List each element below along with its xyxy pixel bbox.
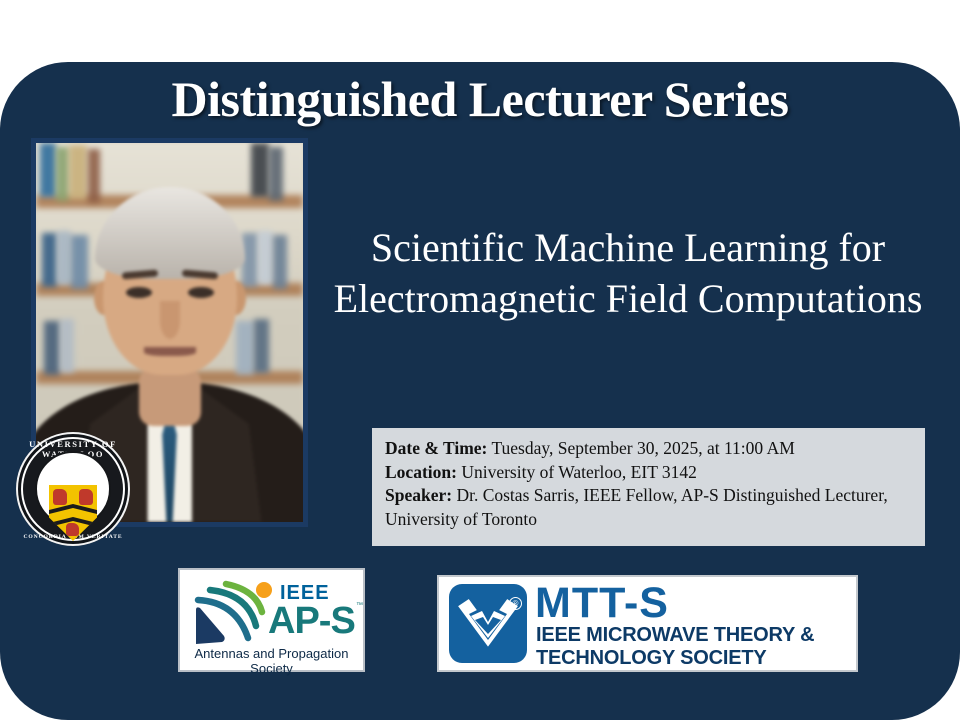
detail-location-label: Location: [385, 462, 457, 482]
book [254, 319, 269, 373]
detail-date-time: Date & Time: Tuesday, September 30, 2025… [385, 437, 913, 461]
book [69, 145, 87, 199]
mtt-subtitle-line-2: TECHNOLOGY SOCIETY [536, 647, 856, 670]
detail-location-value: University of Waterloo, EIT 3142 [457, 462, 697, 482]
mouth [144, 347, 196, 356]
page-title: Distinguished Lecturer Series [0, 70, 960, 128]
detail-date-value: Tuesday, September 30, 2025, at 11:00 AM [487, 438, 794, 458]
lion-bottom [66, 523, 79, 536]
eye-right [188, 287, 214, 298]
aps-logo-top-row: IEEE AP-S ™ [190, 578, 358, 646]
poster-root: Distinguished Lecturer Series [0, 0, 960, 720]
book [242, 233, 258, 287]
book [273, 235, 287, 289]
mtt-name-text: MTT-S [535, 581, 669, 625]
seal-inner-disc [35, 451, 111, 527]
antenna-waves-icon [190, 580, 276, 646]
mtt-subtitle: IEEE MICROWAVE THEORY & TECHNOLOGY SOCIE… [536, 624, 856, 670]
book [57, 231, 71, 285]
book [269, 147, 283, 201]
detail-date-label: Date & Time: [385, 438, 487, 458]
detail-speaker-value: Dr. Costas Sarris, IEEE Fellow, AP-S Dis… [385, 485, 888, 529]
aps-name-text: AP-S [268, 600, 355, 643]
mtt-m-symbol-icon [449, 584, 527, 663]
shield-chevron [49, 504, 97, 514]
event-details-box: Date & Time: Tuesday, September 30, 2025… [372, 428, 925, 546]
nose [160, 301, 180, 339]
book [44, 321, 60, 375]
detail-location: Location: University of Waterloo, EIT 31… [385, 461, 913, 485]
lion-left [53, 489, 67, 505]
lion-right [79, 489, 93, 505]
eye-left [126, 287, 152, 298]
mtt-subtitle-line-1: IEEE MICROWAVE THEORY & [536, 624, 856, 647]
book [258, 231, 273, 285]
book [60, 319, 74, 373]
aps-caption: Antennas and Propagation Society [180, 646, 363, 676]
book [251, 143, 269, 197]
ieee-aps-logo: IEEE AP-S ™ Antennas and Propagation Soc… [178, 568, 365, 672]
book [88, 149, 100, 203]
university-of-waterloo-seal-icon: UNIVERSITY OF WATERLOO CONCORDIA CUM VER… [16, 432, 130, 546]
book [236, 321, 254, 375]
aps-trademark-icon: ™ [356, 602, 363, 609]
detail-speaker: Speaker: Dr. Costas Sarris, IEEE Fellow,… [385, 484, 913, 531]
detail-speaker-label: Speaker: [385, 485, 452, 505]
book [42, 233, 57, 287]
registered-trademark-icon: ® [509, 597, 522, 610]
talk-title: Scientific Machine Learning for Electrom… [330, 222, 926, 324]
ieee-mtt-s-logo: ® MTT-S IEEE MICROWAVE THEORY & TECHNOLO… [437, 575, 858, 672]
mtt-waveguide-badge-icon: ® [449, 584, 527, 663]
book [40, 143, 56, 197]
neck [139, 368, 201, 426]
book [71, 235, 88, 289]
book [56, 147, 69, 201]
